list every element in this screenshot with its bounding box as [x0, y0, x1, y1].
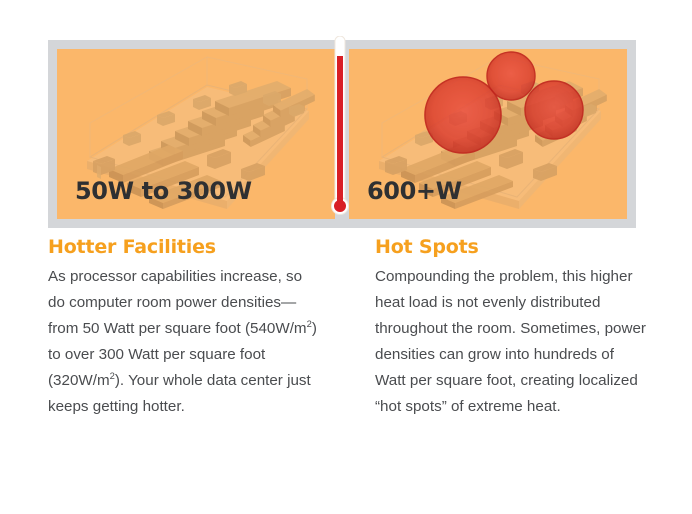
panel-hotter-facilities: 50W to 300W [57, 49, 335, 219]
column-hotter-facilities: Hotter Facilities As processor capabilit… [48, 236, 320, 420]
body-text-part: Compounding the problem, this higher hea… [375, 268, 646, 415]
watt-caption-left: 50W to 300W [75, 177, 252, 205]
column-hot-spots: Hot Spots Compounding the problem, this … [375, 236, 647, 420]
body-text-part: As processor capabilities increase, so d… [48, 268, 307, 337]
body-hot-spots: Compounding the problem, this higher hea… [375, 264, 647, 420]
panel-hot-spots: 600+W [349, 49, 627, 219]
hot-spot-large [425, 77, 501, 153]
hot-spot-right [525, 81, 583, 139]
heading-hot-spots: Hot Spots [375, 236, 647, 258]
hot-spot-top [487, 52, 535, 100]
text-columns: Hotter Facilities As processor capabilit… [48, 236, 648, 420]
thermometer-icon [331, 36, 349, 220]
heading-hotter-facilities: Hotter Facilities [48, 236, 320, 258]
watt-caption-right: 600+W [367, 177, 462, 205]
body-hotter-facilities: As processor capabilities increase, so d… [48, 264, 320, 420]
